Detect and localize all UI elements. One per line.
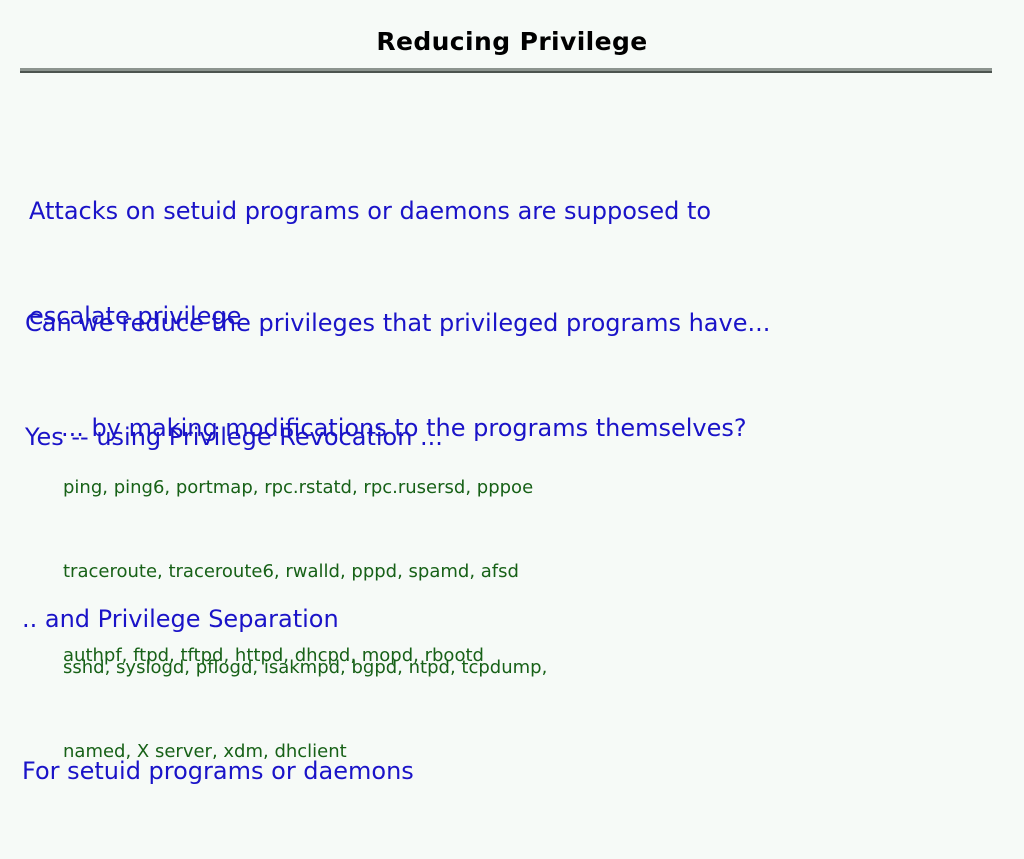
paragraph-closing-label: For setuid programs or daemons <box>22 754 582 789</box>
list-item: sshd, syslogd, pflogd, isakmpd, bgpd, nt… <box>63 654 683 682</box>
slide: Reducing Privilege Attacks on setuid pro… <box>0 0 1024 768</box>
paragraph-closing: For setuid programs or daemons <box>22 684 582 859</box>
paragraph-attacks-line-1: Attacks on setuid programs or daemons ar… <box>29 194 869 229</box>
paragraph-reduce-line-1: Can we reduce the privileges that privil… <box>25 306 925 341</box>
slide-body: Attacks on setuid programs or daemons ar… <box>0 0 1024 768</box>
list-item: ping, ping6, portmap, rpc.rstatd, rpc.ru… <box>63 474 683 502</box>
